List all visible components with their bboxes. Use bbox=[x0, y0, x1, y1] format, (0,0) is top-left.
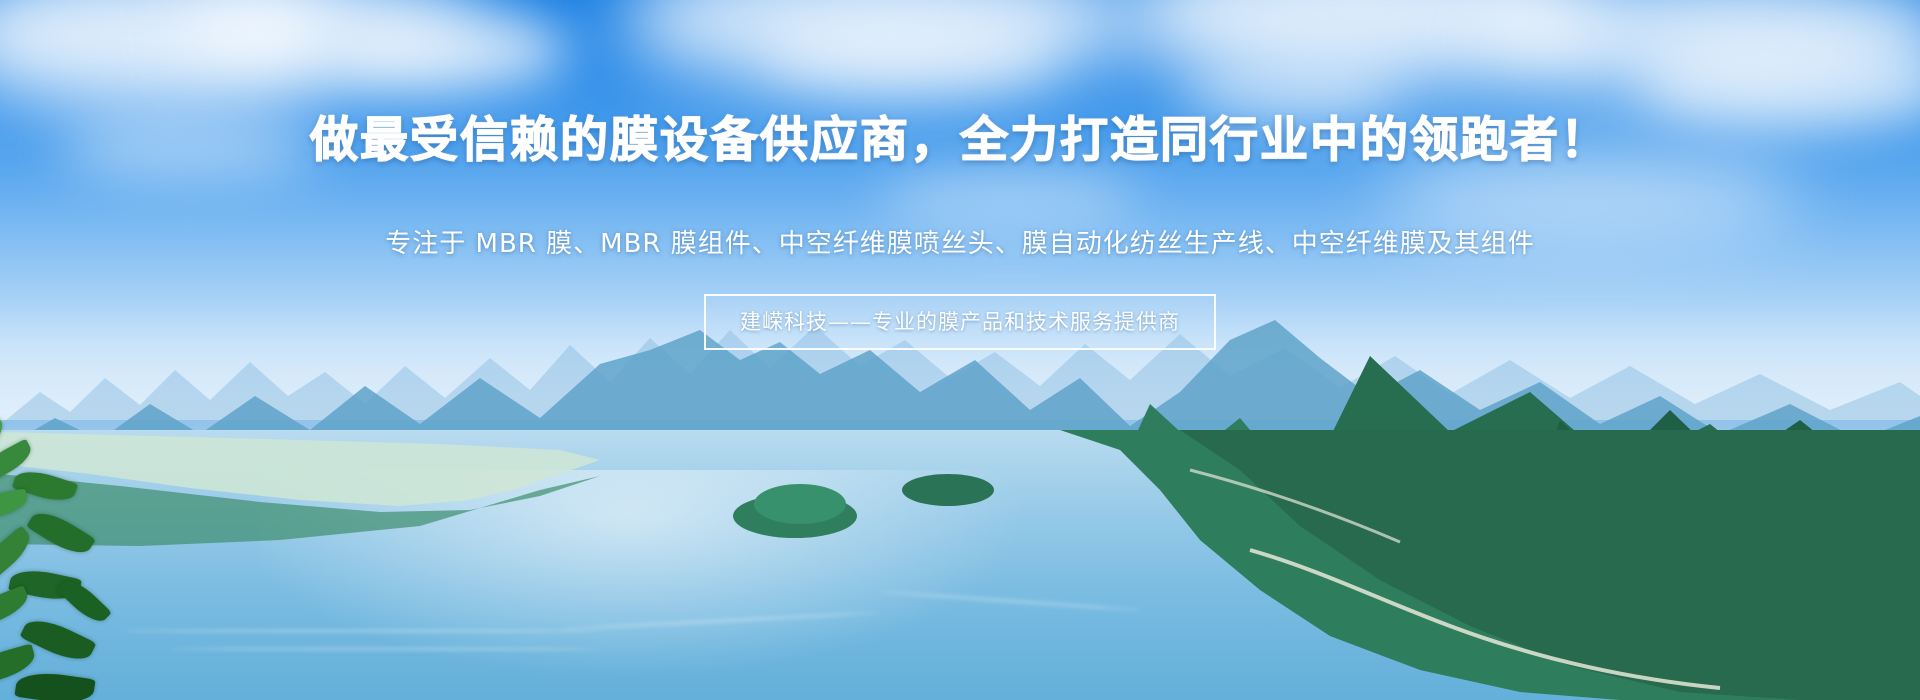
hero-banner: 做最受信赖的膜设备供应商，全力打造同行业中的领跑者！ 专注于 MBR 膜、MBR… bbox=[0, 0, 1920, 700]
hero-subtitle: 专注于 MBR 膜、MBR 膜组件、中空纤维膜喷丝头、膜自动化纺丝生产线、中空纤… bbox=[0, 223, 1920, 260]
hero-tagline-container: 建嵘科技——专业的膜产品和技术服务提供商 bbox=[0, 294, 1920, 350]
hero-tagline-box: 建嵘科技——专业的膜产品和技术服务提供商 bbox=[704, 294, 1216, 350]
hero-text-overlay: 做最受信赖的膜设备供应商，全力打造同行业中的领跑者！ 专注于 MBR 膜、MBR… bbox=[0, 0, 1920, 700]
hero-headline: 做最受信赖的膜设备供应商，全力打造同行业中的领跑者！ bbox=[0, 100, 1920, 170]
